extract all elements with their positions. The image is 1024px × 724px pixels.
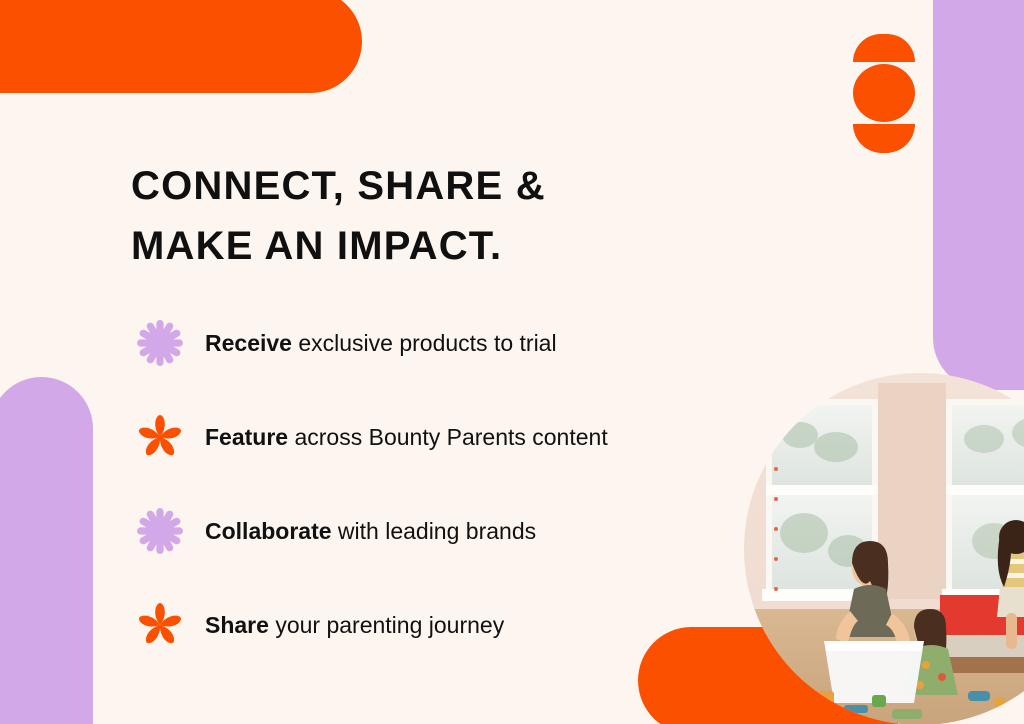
- page-title: CONNECT, SHARE & MAKE AN IMPACT.: [131, 156, 771, 276]
- orange-five-petal-flower-icon: [131, 408, 189, 466]
- list-item-text: Receive exclusive products to trial: [205, 328, 557, 358]
- list-item-rest: with leading brands: [332, 518, 537, 544]
- list-item-text: Collaborate with leading brands: [205, 516, 536, 546]
- list-item: Receive exclusive products to trial: [131, 313, 771, 373]
- list-item-rest: exclusive products to trial: [292, 330, 557, 356]
- orange-five-petal-flower-icon: [131, 596, 189, 654]
- logo-circle-icon: [853, 64, 915, 122]
- purple-starburst-flower-icon: [131, 502, 189, 560]
- list-item-text: Share your parenting journey: [205, 610, 504, 640]
- headline-line-2: MAKE AN IMPACT.: [131, 216, 771, 276]
- list-item-lead: Collaborate: [205, 518, 332, 544]
- list-item-lead: Receive: [205, 330, 292, 356]
- poster-canvas: CONNECT, SHARE & MAKE AN IMPACT.: [0, 0, 1024, 724]
- decorative-purple-bar-bottom-left: [0, 377, 93, 724]
- list-item: Collaborate with leading brands: [131, 501, 771, 561]
- purple-starburst-flower-icon: [131, 314, 189, 372]
- list-item-rest: across Bounty Parents content: [288, 424, 608, 450]
- decorative-orange-bar-top-left: [0, 0, 362, 93]
- list-item: Share your parenting journey: [131, 595, 771, 655]
- headline-line-1: CONNECT, SHARE &: [131, 156, 771, 216]
- logo-dome-bottom-icon: [853, 124, 915, 153]
- decorative-purple-panel-right: [933, 0, 1024, 390]
- list-item-text: Feature across Bounty Parents content: [205, 422, 608, 452]
- list-item: Feature across Bounty Parents content: [131, 407, 771, 467]
- benefits-list: Receive exclusive products to trial Feat…: [131, 313, 771, 655]
- list-item-lead: Feature: [205, 424, 288, 450]
- bounty-logo-mark: [853, 34, 915, 153]
- list-item-rest: your parenting journey: [269, 612, 504, 638]
- logo-dome-top-icon: [853, 34, 915, 62]
- list-item-lead: Share: [205, 612, 269, 638]
